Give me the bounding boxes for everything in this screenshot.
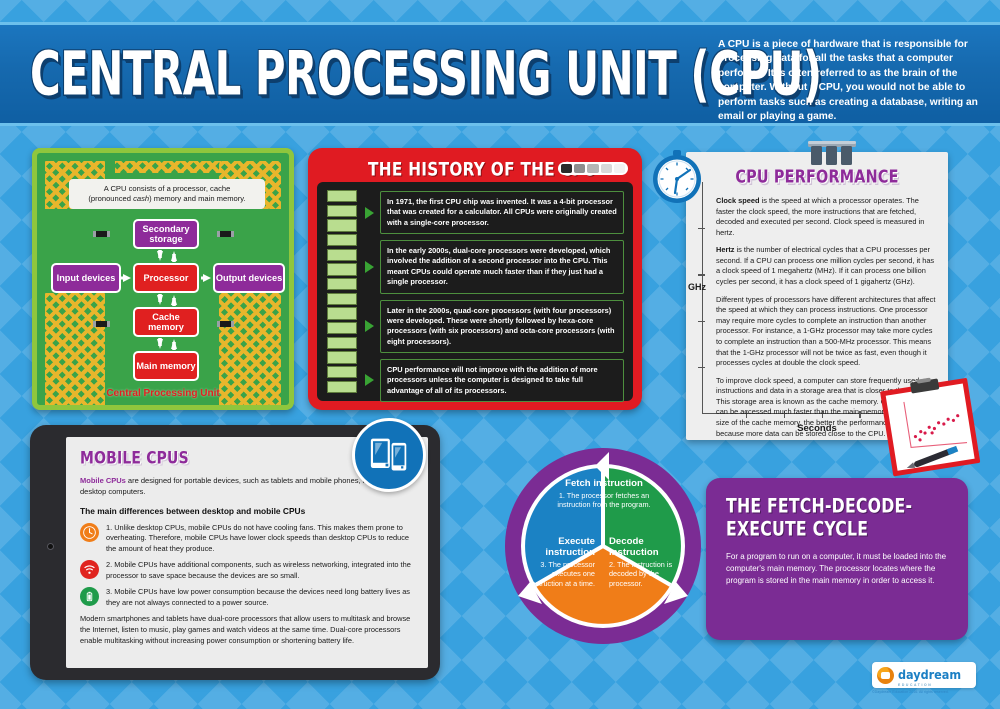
- history-list: In 1971, the first CPU chip was invented…: [365, 191, 624, 395]
- resistor-icon: [93, 321, 110, 327]
- fde-body: For a program to run on a computer, it m…: [726, 551, 948, 587]
- daydream-education-logo: daydream EDUCATION: [872, 662, 976, 688]
- block-processor: Processor: [133, 263, 199, 293]
- resistor-icon: [93, 231, 110, 237]
- mobile-subheading: The main differences between desktop and…: [80, 506, 414, 516]
- list-item: 1. Unlike desktop CPUs, mobile CPUs do n…: [80, 523, 414, 555]
- cpu-diagram-caption: A CPU consists of a processor, cache (pr…: [69, 179, 265, 209]
- fetch-decode-execute-wheel: Fetch instruction 1. The processor fetch…: [483, 446, 723, 646]
- triangle-bullet-icon: [365, 207, 374, 219]
- paragraph: Hertz is the number of electrical cycles…: [716, 245, 938, 287]
- level-meter-icon: [558, 162, 628, 175]
- cycle-diagram: [483, 446, 723, 646]
- logo-wordmark: daydream: [898, 669, 961, 682]
- block-output-devices: Output devices: [213, 263, 285, 293]
- history-panel: The History of the CPU In 1971, the firs…: [308, 148, 642, 410]
- mobile-devices-badge: [352, 418, 426, 492]
- thermometer-icon: [80, 523, 99, 542]
- block-secondary-storage: Secondary storage: [133, 219, 199, 249]
- resistor-icon: [217, 321, 234, 327]
- list-item: Later in the 2000s, quad-core processors…: [365, 300, 624, 353]
- fde-title: The Fetch-Decode-Execute Cycle: [726, 496, 948, 543]
- tablet-and-phone-icon: [369, 436, 409, 474]
- copyright-text: ©Daydream Education 2016. All rights res…: [872, 690, 976, 694]
- intro-paragraph: A CPU is a piece of hardware that is res…: [718, 38, 980, 125]
- solder-pads-top-middle: [115, 161, 221, 173]
- logo-subtitle: EDUCATION: [898, 683, 932, 687]
- list-item: CPU performance will not improve with th…: [365, 359, 624, 402]
- cpu-diagram-panel: A CPU consists of a processor, cache (pr…: [32, 148, 294, 410]
- led-bar-graph-icon: [327, 190, 357, 393]
- triangle-bullet-icon: [365, 320, 374, 332]
- page-title: Central Processing Unit (CPU): [30, 39, 822, 110]
- block-main-memory: Main memory: [133, 351, 199, 381]
- paragraph: Clock speed is the speed at which a proc…: [716, 196, 938, 238]
- list-item: In the early 2000s, dual-core processors…: [365, 240, 624, 293]
- wifi-icon: [80, 560, 99, 579]
- logo-mark-icon: [877, 667, 894, 684]
- fetch-decode-execute-panel: The Fetch-Decode-Execute Cycle For a pro…: [706, 478, 968, 640]
- triangle-bullet-icon: [365, 261, 374, 273]
- block-input-devices: Input devices: [51, 263, 121, 293]
- resistor-icon: [217, 231, 234, 237]
- list-item: In 1971, the first CPU chip was invented…: [365, 191, 624, 234]
- stopwatch-icon: [650, 150, 704, 204]
- triangle-bullet-icon: [365, 374, 374, 386]
- y-axis-label: GHz: [688, 282, 706, 292]
- paragraph: Different types of processors have diffe…: [716, 295, 938, 369]
- clipboard-scatter-chart: [877, 371, 985, 481]
- history-screen: In 1971, the first CPU chip was invented…: [317, 182, 633, 401]
- list-item: 2. Mobile CPUs have additional component…: [80, 560, 414, 581]
- block-cache-memory: Cache memory: [133, 307, 199, 337]
- binder-clip-icon: [804, 140, 860, 166]
- cpu-performance-title: CPU Performance: [686, 166, 948, 187]
- cpu-board-label: Central Processing Unit: [37, 388, 289, 399]
- battery-icon: [80, 587, 99, 606]
- list-item: 3. Mobile CPUs have low power consumptio…: [80, 587, 414, 608]
- camera-icon: [47, 543, 54, 550]
- mobile-outro: Modern smartphones and tablets have dual…: [80, 614, 414, 647]
